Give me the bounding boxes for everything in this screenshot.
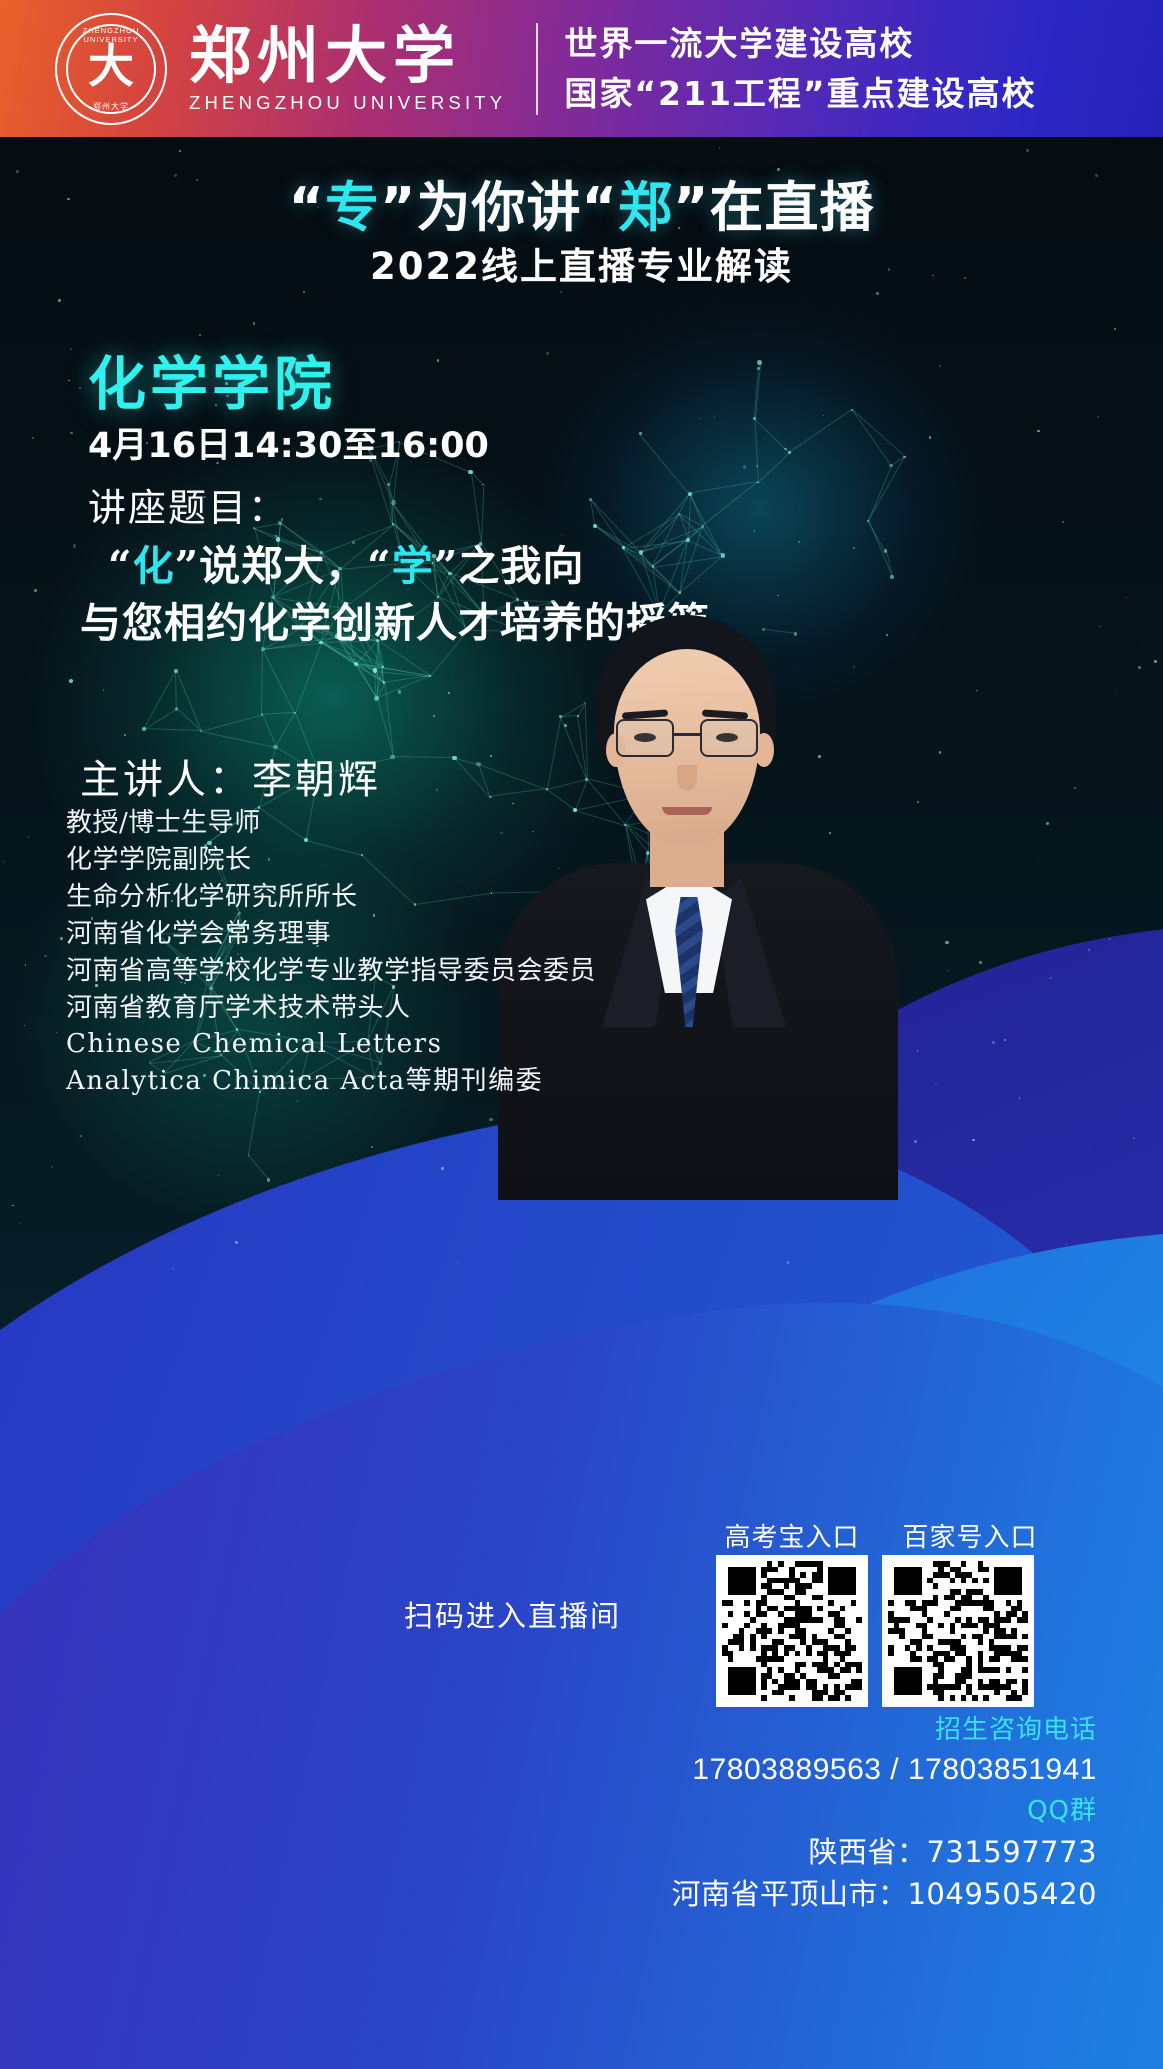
title-mid: ”为你讲“ (380, 176, 618, 239)
header-slogans: 世界一流大学建设高校 国家“211工程”重点建设高校 (564, 19, 1036, 118)
glasses-bridge (674, 733, 700, 736)
page-title: “专”为你讲“郑”在直播 (0, 163, 1163, 242)
credential-item: 教授/博士生导师 (66, 805, 596, 842)
qq-group-henan-pingdingshan: 河南省平顶山市：1049505420 (671, 1873, 1097, 1915)
credential-item: 河南省高等学校化学专业教学指导委员会委员 (66, 953, 596, 990)
glasses-lens-left (616, 719, 674, 757)
credential-item: 生命分析化学研究所所长 (66, 879, 596, 916)
lecture-mid: ”说郑大，“ (175, 542, 392, 590)
admissions-phone-numbers: 17803889563 / 17803851941 (671, 1748, 1097, 1792)
credential-item: Chinese Chemical Letters (66, 1026, 596, 1063)
seal-bottom-text: 郑州大学 (57, 101, 165, 112)
qq-group-heading: QQ群 (671, 1792, 1097, 1831)
university-seal-icon: ZHENGZHOU UNIVERSITY 大 郑州大学 (55, 13, 167, 125)
university-name-cn: 郑州大学 (189, 23, 506, 88)
lecture-tail: ”之我向 (434, 542, 585, 590)
event-datetime: 4月16日14:30至16:00 (88, 417, 489, 468)
header-divider (536, 23, 538, 115)
glasses-lens-right (700, 719, 758, 757)
credential-item: 化学学院副院长 (66, 842, 596, 879)
qr-code-row (716, 1555, 1034, 1707)
portrait-glasses-icon (616, 719, 758, 759)
poster-body: “专”为你讲“郑”在直播 2022线上直播专业解读 化学学院 4月16日14:3… (0, 137, 1163, 2069)
college-name: 化学学院 (88, 337, 336, 421)
university-logo: ZHENGZHOU UNIVERSITY 大 郑州大学 (55, 13, 167, 125)
lecture-quote-open-1: “ (108, 542, 133, 590)
header-banner: ZHENGZHOU UNIVERSITY 大 郑州大学 郑州大学 ZHENGZH… (0, 0, 1163, 137)
qr-label-gaokaobao: 高考宝入口 (716, 1517, 868, 1554)
slogan-line-2: 国家“211工程”重点建设高校 (564, 69, 1036, 119)
admissions-phone-heading: 招生咨询电话 (671, 1713, 1097, 1748)
portrait-mouth (662, 807, 712, 815)
qr-code-labels: 高考宝入口 百家号入口 (716, 1517, 1046, 1554)
lecture-title-line-1: “化”说郑大，“学”之我向 (108, 532, 584, 592)
title-accent-char-2: 郑 (618, 176, 673, 239)
title-accent-char-1: 专 (325, 176, 380, 239)
slogan-line-1: 世界一流大学建设高校 (564, 19, 1036, 69)
lecture-accent-char-1: 化 (133, 542, 175, 590)
contact-block: 招生咨询电话 17803889563 / 17803851941 QQ群 陕西省… (671, 1713, 1097, 1915)
qr-label-baijiahao: 百家号入口 (894, 1517, 1046, 1554)
speaker-name: 主讲人：李朝辉 (80, 747, 381, 805)
qq-group-shaanxi: 陕西省：731597773 (671, 1831, 1097, 1873)
lecture-accent-char-2: 学 (392, 542, 434, 590)
credential-item: Analytica Chimica Acta等期刊编委 (66, 1063, 596, 1100)
lecture-topic-label: 讲座题目： (88, 477, 288, 532)
credential-item: 河南省教育厅学术技术带头人 (66, 990, 596, 1027)
university-name-block: 郑州大学 ZHENGZHOU UNIVERSITY (189, 23, 506, 113)
page-subtitle: 2022线上直播专业解读 (0, 236, 1163, 290)
poster-content: “专”为你讲“郑”在直播 2022线上直播专业解读 化学学院 4月16日14:3… (0, 137, 1163, 2069)
credential-item: 河南省化学会常务理事 (66, 916, 596, 953)
title-quote-open-1: “ (289, 176, 326, 239)
title-tail: ”在直播 (673, 176, 875, 239)
qr-code-baijiahao[interactable] (882, 1555, 1034, 1707)
scan-instruction: 扫码进入直播间 (404, 1593, 621, 1635)
speaker-credentials-list: 教授/博士生导师 化学学院副院长 生命分析化学研究所所长 河南省化学会常务理事 … (66, 805, 596, 1100)
qr-code-gaokaobao[interactable] (716, 1555, 868, 1707)
portrait-nose (677, 765, 697, 791)
university-name-en: ZHENGZHOU UNIVERSITY (189, 92, 506, 114)
